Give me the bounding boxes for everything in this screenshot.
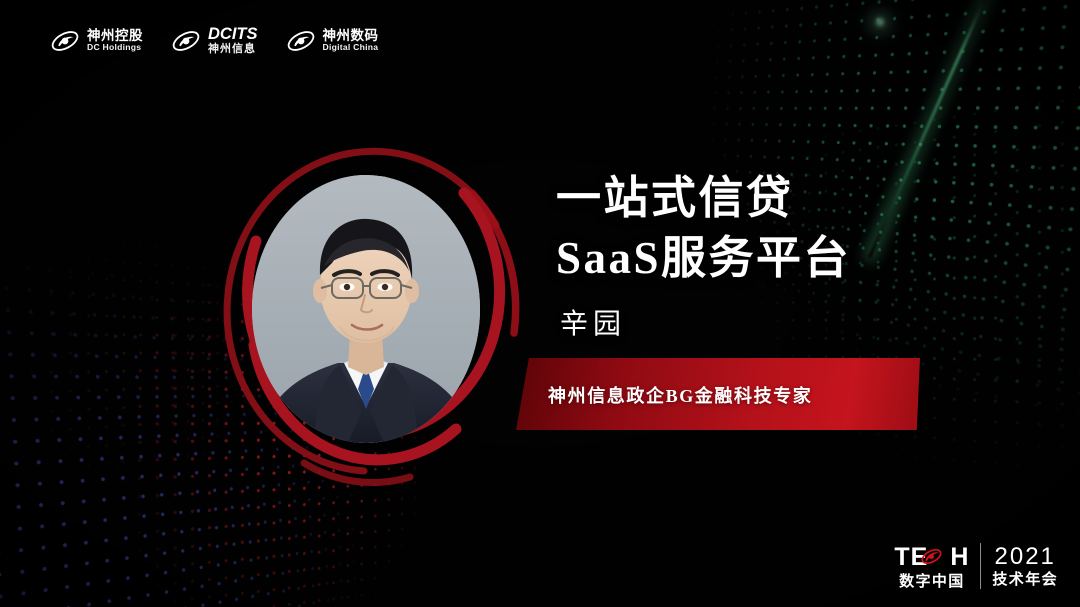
logo-dc-holdings-text: 神州控股 DC Holdings xyxy=(87,29,143,53)
logo-digital-china: 神州数码 Digital China xyxy=(286,28,379,54)
logo-dcits-en: 神州信息 xyxy=(208,44,258,56)
logo-dc-holdings-cn: 神州控股 xyxy=(87,29,143,44)
logo-digital-china-en: Digital China xyxy=(323,43,379,52)
green-dot-grid-background xyxy=(590,0,1080,588)
event-logo-tech-wordmark: TE H xyxy=(894,544,969,571)
speaker-role-text: 神州信息政企BG金融科技专家 xyxy=(548,382,812,408)
green-dot-grid-secondary xyxy=(697,84,1080,586)
logo-digital-china-text: 神州数码 Digital China xyxy=(323,29,379,53)
speaker-photo-illustration xyxy=(252,175,480,443)
event-logo-year-column: 2021 技术年会 xyxy=(992,545,1058,587)
speaker-name: 辛园 xyxy=(560,302,626,342)
vignette-overlay xyxy=(0,0,1080,607)
logo-dc-holdings-en: DC Holdings xyxy=(87,43,143,52)
green-light-spark xyxy=(876,18,884,26)
speaker-photo xyxy=(252,175,480,443)
logo-digital-china-cn: 神州数码 xyxy=(323,29,379,44)
slide-title-block: 一站式信贷 SaaS服务平台 xyxy=(556,168,851,289)
title-line-1: 一站式信贷 xyxy=(556,168,851,228)
green-light-streak xyxy=(868,0,989,258)
event-logo-year-cn: 技术年会 xyxy=(992,572,1058,587)
swoosh-logo-icon xyxy=(286,28,316,54)
logo-dcits-cn: DCITS xyxy=(208,26,258,44)
event-logo-tech-cn: 数字中国 xyxy=(899,574,965,589)
logo-dc-holdings: 神州控股 DC Holdings xyxy=(50,28,143,54)
red-swoosh-icon xyxy=(920,546,943,567)
corporate-logo-bar: 神州控股 DC Holdings DCITS 神州信息 神州数码 xyxy=(50,26,379,56)
title-line-2: SaaS服务平台 xyxy=(556,228,851,288)
event-logo-year: 2021 xyxy=(995,545,1056,569)
presentation-slide: 神州控股 DC Holdings DCITS 神州信息 神州数码 xyxy=(0,0,1080,607)
swoosh-logo-icon xyxy=(171,28,201,54)
speaker-portrait-group xyxy=(196,133,532,481)
swoosh-logo-icon xyxy=(50,28,80,54)
event-logo-tech-column: TE H 数字中国 xyxy=(894,544,969,589)
event-logo-divider xyxy=(980,543,981,589)
event-logo-tech-post: H xyxy=(950,545,969,570)
logo-dcits: DCITS 神州信息 xyxy=(171,26,258,56)
logo-dcits-text: DCITS 神州信息 xyxy=(208,26,258,56)
event-logo: TE H 数字中国 2021 技术年会 xyxy=(894,543,1058,589)
